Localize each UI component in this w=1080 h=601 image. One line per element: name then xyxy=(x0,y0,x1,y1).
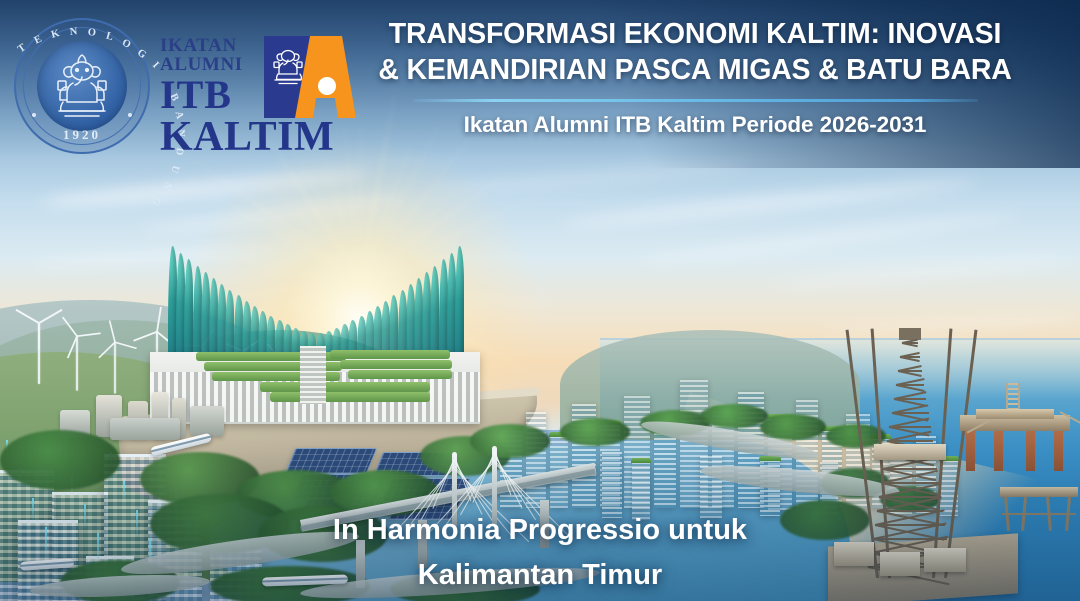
tree-canopy xyxy=(760,414,826,440)
turbine-blade xyxy=(98,342,115,359)
wind-turbine xyxy=(101,342,128,383)
turbine-mast xyxy=(114,342,116,393)
seal-arc-letter: O xyxy=(120,37,133,51)
plant-block xyxy=(110,418,180,440)
title-block: TRANSFORMASI EKONOMI KALTIM: INOVASI & K… xyxy=(340,16,1050,139)
seal-arc-letter: T xyxy=(16,42,28,55)
derrick-crossbrace xyxy=(894,398,927,400)
terrace-garden xyxy=(348,370,452,379)
title-divider xyxy=(413,99,978,102)
page-title: TRANSFORMASI EKONOMI KALTIM: INOVASI & K… xyxy=(340,16,1050,88)
terrace-garden xyxy=(330,350,450,359)
slide-header: INSTITUT TEKNOLOGI BANDUNG 1920 xyxy=(0,0,1080,168)
ia-line-itb: ITB xyxy=(160,76,278,114)
presentation-slide: INSTITUT TEKNOLOGI BANDUNG 1920 xyxy=(0,0,1080,601)
ganesha-icon xyxy=(271,46,305,86)
seal-arc-letter: L xyxy=(105,31,115,44)
seal-arc-letter: G xyxy=(135,47,148,61)
derrick-crossbrace xyxy=(889,426,930,428)
terrace-garden xyxy=(340,360,452,369)
ganesha-icon xyxy=(51,53,113,119)
wind-turbine xyxy=(63,336,92,382)
seal-arc-letter: K xyxy=(50,28,61,41)
tree-canopy xyxy=(700,404,768,428)
derrick-crossbrace xyxy=(902,342,918,344)
seal-arc-letter: N xyxy=(69,26,78,38)
derrick-crossbrace xyxy=(900,356,920,358)
wind-turbine xyxy=(23,323,55,381)
palace-roof-feather xyxy=(455,246,464,364)
derrick-crossbrace xyxy=(892,412,929,414)
terrace-garden xyxy=(260,382,430,392)
itb-seal-logo: INSTITUT TEKNOLOGI BANDUNG 1920 xyxy=(14,18,150,154)
ia-wordmark: IKATAN ALUMNI ITB xyxy=(160,36,278,114)
derrick-crossbrace xyxy=(898,370,922,372)
ia-line-kaltim: KALTIM xyxy=(160,116,334,158)
ia-kaltim-logo: IKATAN ALUMNI ITB KALTIM xyxy=(160,36,350,160)
page-subtitle: Ikatan Alumni ITB Kaltim Periode 2026-20… xyxy=(340,111,1050,139)
tree-canopy xyxy=(560,418,630,446)
derrick-crossbrace xyxy=(896,384,925,386)
seal-arc-letter: O xyxy=(87,27,97,39)
derrick-crown xyxy=(899,328,921,340)
ia-line-ikatan: IKATAN xyxy=(160,36,278,55)
seal-dot xyxy=(128,113,132,117)
turbine-blade xyxy=(38,323,40,350)
tagline-text: In Harmonia Progressio untuk Kalimantan … xyxy=(230,508,850,598)
palace-staircase xyxy=(300,346,326,404)
terrace-garden xyxy=(270,392,430,402)
seal-arc-letter: T xyxy=(0,67,2,79)
plant-block xyxy=(190,406,224,436)
rig-superstructure xyxy=(976,409,1054,419)
seal-dot xyxy=(32,113,36,117)
seal-arc-letter: E xyxy=(33,33,44,46)
turbine-mast xyxy=(76,336,78,390)
derrick-crossbrace xyxy=(887,440,932,442)
seal-year: 1920 xyxy=(14,127,150,143)
